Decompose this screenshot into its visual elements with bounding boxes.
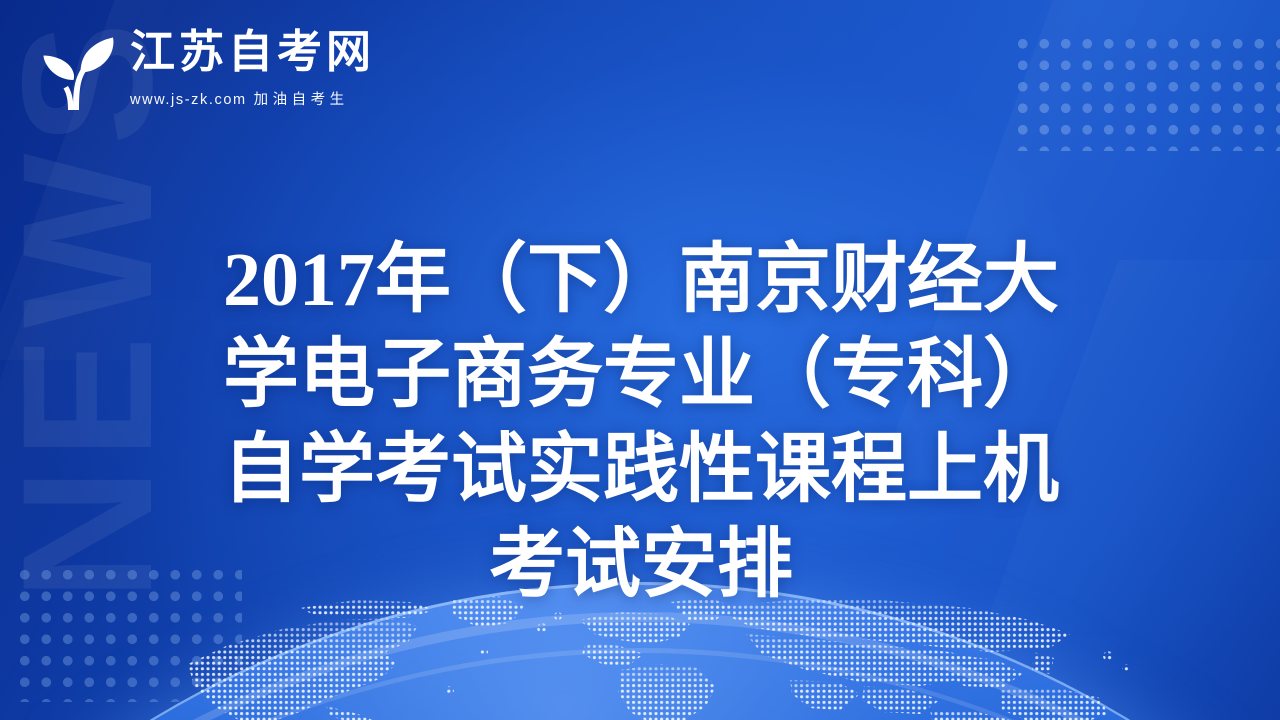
dot-grid-top-right xyxy=(1012,33,1280,151)
globe-arc-far xyxy=(0,648,1280,720)
globe-arc-outer xyxy=(0,612,1280,720)
sprout-icon xyxy=(32,24,116,112)
news-watermark-right: NEWS xyxy=(1273,154,1280,720)
logo-website: www.js-zk.com xyxy=(130,92,247,108)
site-logo[interactable]: 江苏自考网 www.js-zk.com加油自考生 xyxy=(32,24,375,112)
logo-slogan: 加油自考生 xyxy=(254,92,349,108)
page-title: 2017年（下）南京财经大学电子商务专业（专科）自学考试实践性课程上机考试安排 xyxy=(205,233,1077,613)
news-banner-poster: NEWS NEWS xyxy=(0,0,1280,720)
logo-tagline: www.js-zk.com加油自考生 xyxy=(130,88,375,109)
logo-site-name: 江苏自考网 xyxy=(130,28,375,75)
